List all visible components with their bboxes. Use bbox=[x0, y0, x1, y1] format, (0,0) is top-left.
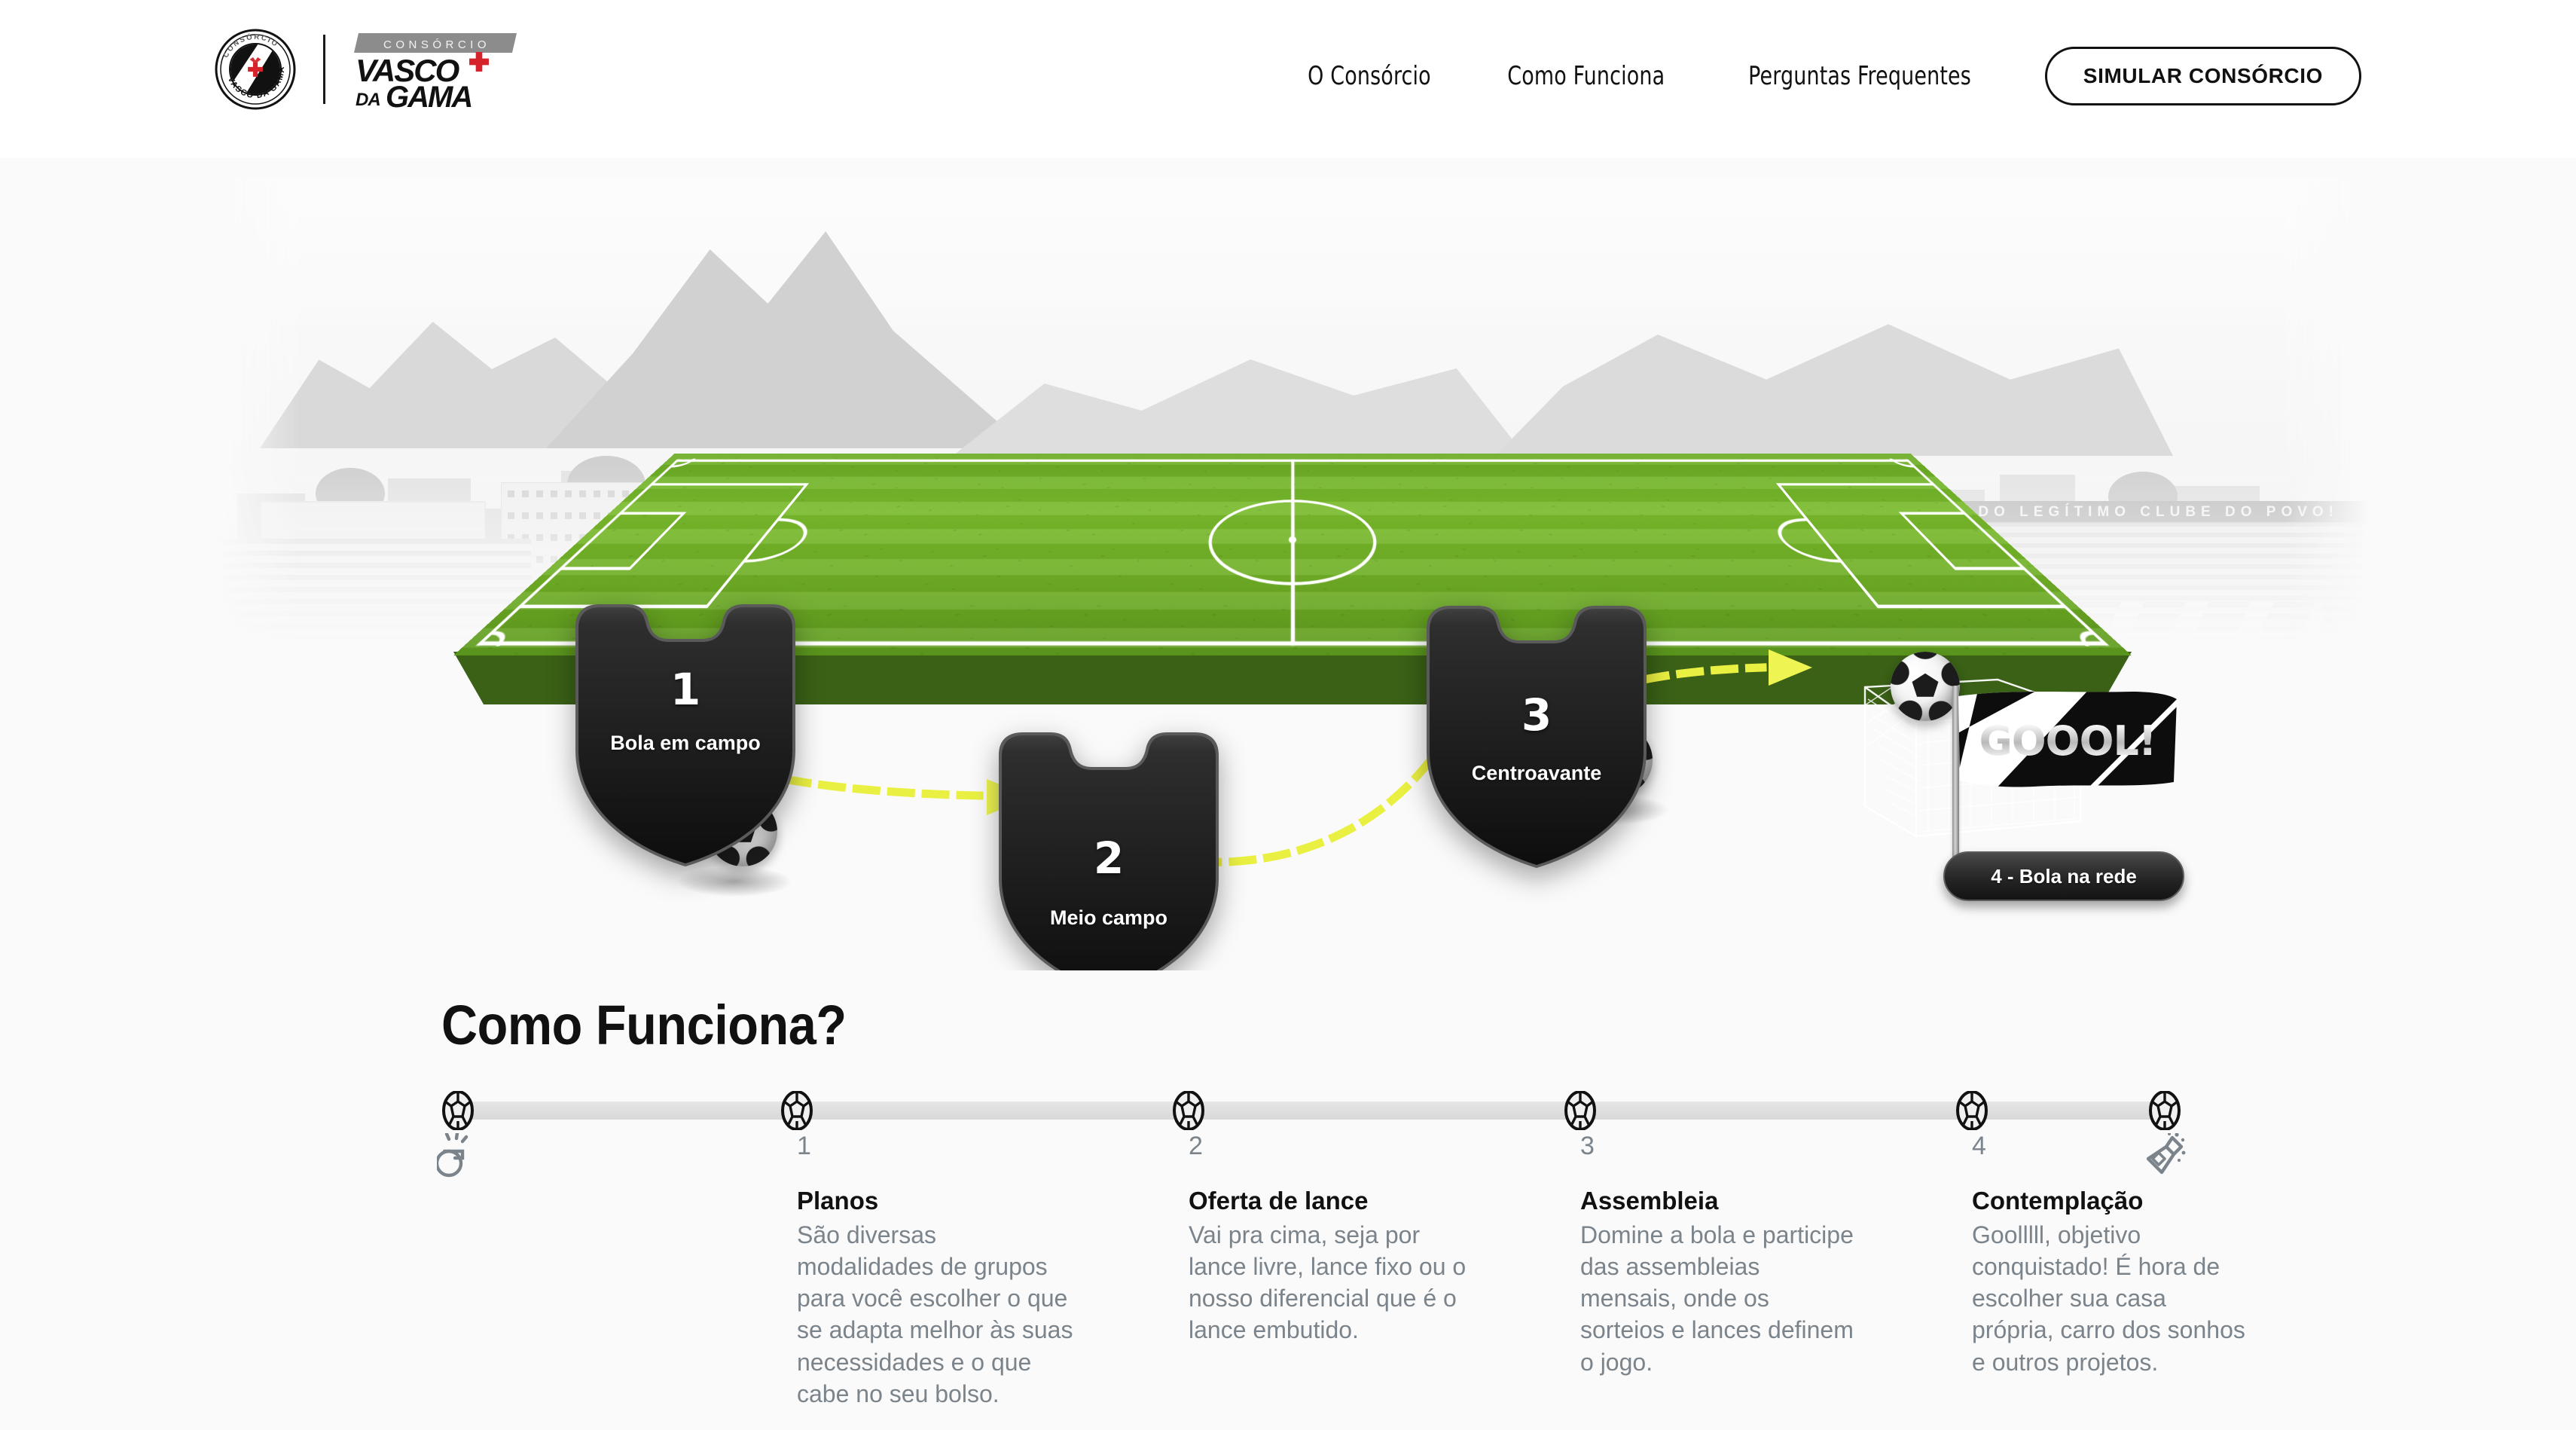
whistle-icon bbox=[437, 1133, 479, 1180]
step-description: Vai pra cima, seja por lance livre, lanc… bbox=[1189, 1219, 1467, 1346]
badge-number: 2 bbox=[1094, 836, 1124, 880]
badge-content: 2 Meio campo bbox=[996, 731, 1222, 970]
soccer-ball-icon[interactable] bbox=[781, 1091, 813, 1130]
step-number: 1 bbox=[797, 1133, 1076, 1159]
hero-section: BARREIRA DO VASCO, CASA DO LEGÍTIMO CLUB… bbox=[0, 158, 2576, 970]
soccer-ball-in-net bbox=[1891, 652, 1960, 721]
goool-flag: GOOOL! bbox=[1958, 692, 2177, 790]
step-heading: Assembleia bbox=[1580, 1186, 1859, 1216]
soccer-ball-icon[interactable] bbox=[2149, 1091, 2181, 1130]
badge-label: Bola em campo bbox=[591, 731, 780, 756]
brand-logo[interactable]: CONSÓRCIO VASCO DA GAMA CONSÓRCIO VASCO bbox=[215, 29, 517, 110]
step-number: 2 bbox=[1189, 1133, 1467, 1159]
goal-pill-label: 4 - Bola na rede bbox=[1991, 865, 2137, 888]
goal-pill-4[interactable]: 4 - Bola na rede bbox=[1943, 851, 2184, 901]
logo-divider bbox=[323, 35, 325, 104]
header-inner: CONSÓRCIO VASCO DA GAMA CONSÓRCIO VASCO bbox=[0, 0, 2576, 158]
timeline-step-1: 1 Planos São diversas modalidades de gru… bbox=[797, 1091, 1076, 1410]
timeline-step-2: 2 Oferta de lance Vai pra cima, seja por… bbox=[1189, 1091, 1467, 1346]
soccer-ball-icon[interactable] bbox=[442, 1091, 474, 1130]
badge-content: 3 Centroavante bbox=[1424, 604, 1650, 869]
svg-text:CONSÓRCIO: CONSÓRCIO bbox=[383, 38, 490, 51]
vasco-crest-icon: CONSÓRCIO VASCO DA GAMA bbox=[215, 29, 296, 110]
pitch-badge-1[interactable]: 1 Bola em campo bbox=[572, 603, 798, 868]
site-header: CONSÓRCIO VASCO DA GAMA CONSÓRCIO VASCO bbox=[0, 0, 2576, 158]
goool-flag-text: GOOOL! bbox=[1958, 692, 2177, 790]
badge-content: 1 Bola em campo bbox=[572, 603, 798, 868]
steps-timeline: 1 Planos São diversas modalidades de gru… bbox=[441, 1091, 2181, 1407]
soccer-ball-icon[interactable] bbox=[1173, 1091, 1204, 1130]
simular-consorcio-label: SIMULAR CONSÓRCIO bbox=[2083, 64, 2323, 88]
how-it-works-section: Como Funciona? bbox=[0, 970, 2576, 1430]
svg-text:DA: DA bbox=[356, 90, 380, 110]
step-description: Goolllll, objetivo conquistado! É hora d… bbox=[1972, 1219, 2251, 1378]
soccer-ball-icon[interactable] bbox=[1564, 1091, 1596, 1130]
ball-shadow bbox=[678, 866, 791, 897]
badge-number: 3 bbox=[1521, 693, 1552, 737]
simular-consorcio-button[interactable]: SIMULAR CONSÓRCIO bbox=[2045, 47, 2361, 105]
badge-label: Meio campo bbox=[1030, 906, 1187, 930]
nav-link-perguntas-frequentes[interactable]: Perguntas Frequentes bbox=[1723, 61, 1996, 91]
badge-label: Centroavante bbox=[1452, 761, 1622, 786]
step-description: São diversas modalidades de grupos para … bbox=[797, 1219, 1076, 1410]
step-heading: Oferta de lance bbox=[1189, 1186, 1467, 1216]
step-number: 4 bbox=[1972, 1133, 2251, 1159]
vasco-wordmark: CONSÓRCIO VASCO DA GAMA bbox=[353, 29, 517, 110]
nav-link-o-consorcio[interactable]: O Consórcio bbox=[1283, 61, 1457, 91]
step-description: Domine a bola e participe das assembleia… bbox=[1580, 1219, 1859, 1378]
nav-link-como-funciona[interactable]: Como Funciona bbox=[1482, 61, 1690, 91]
pitch-badge-3[interactable]: 3 Centroavante bbox=[1424, 604, 1650, 869]
step-heading: Planos bbox=[797, 1186, 1076, 1216]
step-number: 3 bbox=[1580, 1133, 1859, 1159]
timeline-step-3: 3 Assembleia Domine a bola e participe d… bbox=[1580, 1091, 1859, 1378]
soccer-ball-icon[interactable] bbox=[1956, 1091, 1988, 1130]
page-title: Como Funciona? bbox=[441, 993, 847, 1057]
timeline-step-4: 4 Contemplação Goolllll, objetivo conqui… bbox=[1972, 1091, 2251, 1378]
svg-text:GAMA: GAMA bbox=[386, 81, 472, 110]
badge-number: 1 bbox=[670, 668, 700, 711]
pitch-badge-2[interactable]: 2 Meio campo bbox=[996, 731, 1222, 970]
pitch-center-spot bbox=[1289, 536, 1296, 543]
main-nav: O Consórcio Como Funciona Perguntas Freq… bbox=[1271, 47, 2361, 105]
soccer-pitch-graphic bbox=[0, 520, 2576, 942]
step-heading: Contemplação bbox=[1972, 1186, 2251, 1216]
